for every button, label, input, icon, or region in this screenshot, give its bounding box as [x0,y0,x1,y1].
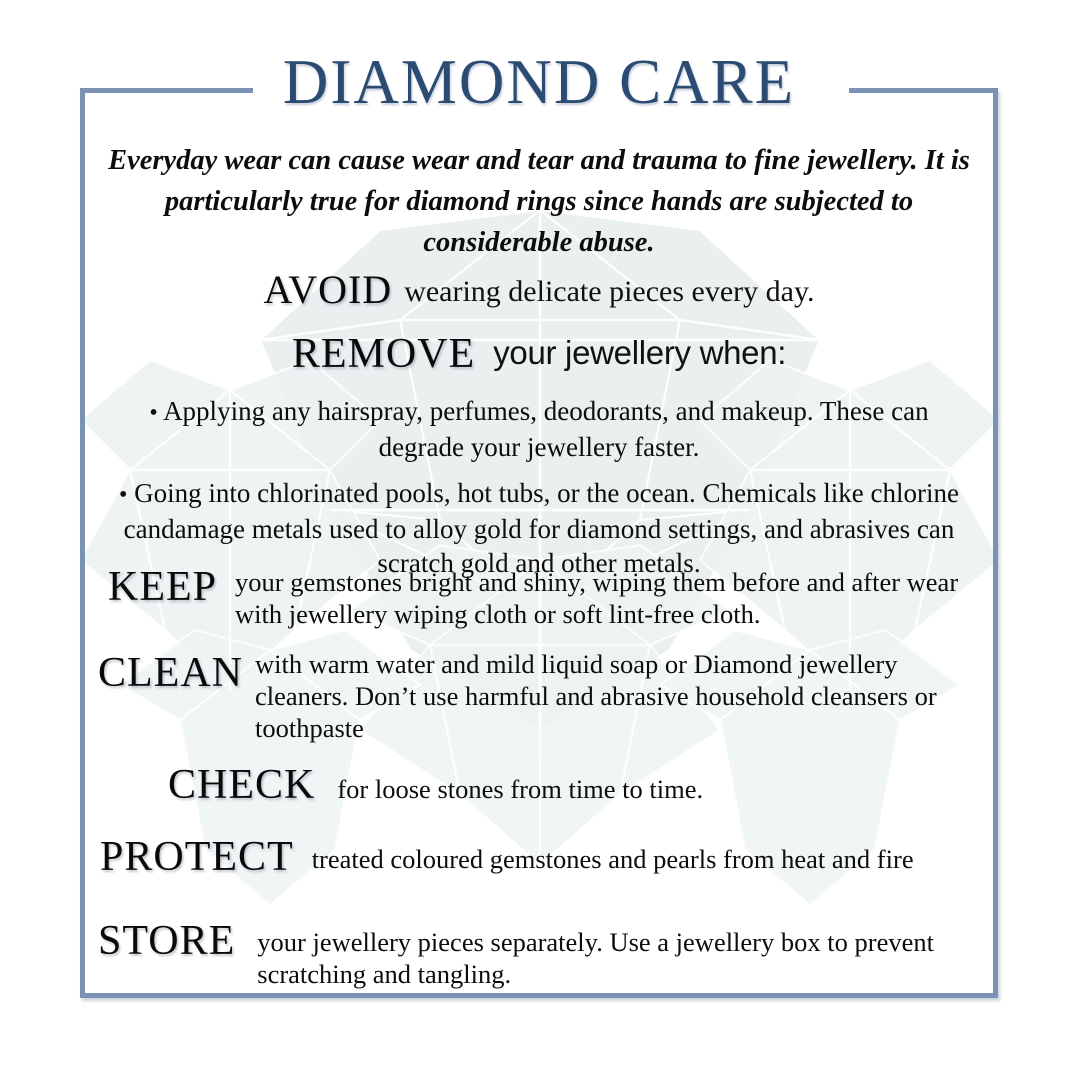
keyword-keep: KEEP [108,564,217,606]
section-clean: CLEAN with warm water and mild liquid so… [98,648,988,744]
protect-text: treated coloured gemstones and pearls fr… [294,836,988,875]
keyword-store: STORE [98,920,235,960]
keyword-protect: PROTECT [100,836,294,876]
list-item-text: Going into chlorinated pools, hot tubs, … [124,478,959,578]
bullet-dot-icon: • [149,400,157,426]
keyword-check: CHECK [168,764,315,804]
section-check: CHECK for loose stones from time to time… [168,764,988,805]
clean-text: with warm water and mild liquid soap or … [243,648,988,744]
remove-bullet-list: • Applying any hairspray, perfumes, deod… [80,394,998,580]
diamond-care-poster: DIAMOND CARE Everyday wear can cause wea… [0,0,1080,1080]
keyword-clean: CLEAN [98,648,243,692]
bullet-dot-icon: • [119,482,127,508]
poster-content: DIAMOND CARE Everyday wear can cause wea… [80,88,998,998]
keyword-avoid: AVOID [263,267,392,312]
section-keep: KEEP your gemstones bright and shiny, wi… [108,564,988,630]
section-protect: PROTECT treated coloured gemstones and p… [100,836,988,876]
store-text: your jewellery pieces separately. Use a … [235,920,988,990]
remove-text: your jewellery when: [493,334,786,371]
avoid-text: wearing delicate pieces every day. [404,275,814,308]
keyword-remove: REMOVE [292,331,475,377]
check-text: for loose stones from time to time. [315,764,988,805]
page-title: DIAMOND CARE [80,47,998,117]
intro-paragraph: Everyday wear can cause wear and tear an… [104,140,974,263]
list-item: • Applying any hairspray, perfumes, deod… [80,394,998,464]
section-avoid: AVOIDwearing delicate pieces every day. [80,266,998,313]
keep-text: your gemstones bright and shiny, wiping … [217,564,988,630]
section-remove: REMOVEyour jewellery when: [80,330,998,378]
section-store: STORE your jewellery pieces separately. … [98,920,988,990]
list-item-text: Applying any hairspray, perfumes, deodor… [163,396,929,462]
